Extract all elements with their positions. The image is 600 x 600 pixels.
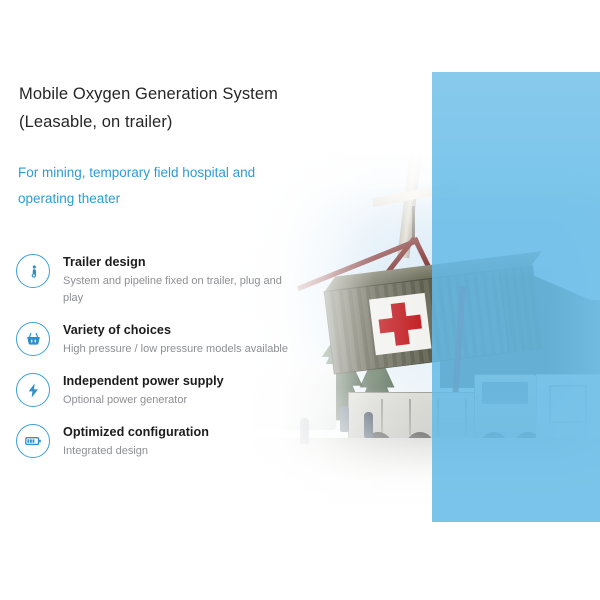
page-title-line-1: Mobile Oxygen Generation System bbox=[19, 80, 359, 108]
feature-title: Optimized configuration bbox=[63, 425, 209, 439]
feature-list: Trailer design System and pipeline fixed… bbox=[16, 252, 302, 460]
trailer-hitch-icon bbox=[16, 254, 50, 288]
feature-item-variety-of-choices: Variety of choices High pressure / low p… bbox=[16, 320, 302, 358]
page-title: Mobile Oxygen Generation System (Leasabl… bbox=[19, 80, 359, 136]
red-cross-placard bbox=[369, 293, 431, 355]
basket-choices-icon bbox=[16, 322, 50, 356]
lightning-bolt-icon bbox=[16, 373, 50, 407]
feature-item-independent-power-supply: Independent power supply Optional power … bbox=[16, 371, 302, 409]
feature-description: System and pipeline fixed on trailer, pl… bbox=[63, 273, 295, 307]
worker-figure bbox=[340, 406, 349, 432]
feature-description: Integrated design bbox=[63, 443, 209, 460]
page-title-line-2: (Leasable, on trailer) bbox=[19, 108, 359, 136]
red-cross-icon bbox=[379, 315, 422, 334]
feature-text: Independent power supply Optional power … bbox=[63, 371, 224, 409]
feature-text: Optimized configuration Integrated desig… bbox=[63, 422, 209, 460]
feature-title: Trailer design bbox=[63, 255, 146, 269]
feature-text: Variety of choices High pressure / low p… bbox=[63, 320, 288, 358]
feature-item-trailer-design: Trailer design System and pipeline fixed… bbox=[16, 252, 302, 307]
feature-item-optimized-configuration: Optimized configuration Integrated desig… bbox=[16, 422, 302, 460]
feature-title: Variety of choices bbox=[63, 323, 171, 337]
feature-text: Trailer design System and pipeline fixed… bbox=[63, 252, 295, 307]
page-subtitle: For mining, temporary field hospital and… bbox=[18, 160, 348, 212]
feature-description: Optional power generator bbox=[63, 392, 224, 409]
battery-icon bbox=[16, 424, 50, 458]
marketing-slide: Mobile Oxygen Generation System (Leasabl… bbox=[0, 0, 600, 600]
feature-title: Independent power supply bbox=[63, 374, 224, 388]
worker-figure bbox=[364, 412, 373, 438]
page-subtitle-line-2: operating theater bbox=[18, 186, 348, 212]
feature-description: High pressure / low pressure models avai… bbox=[63, 341, 288, 358]
page-subtitle-line-1: For mining, temporary field hospital and bbox=[18, 160, 348, 186]
accent-panel bbox=[432, 72, 600, 522]
